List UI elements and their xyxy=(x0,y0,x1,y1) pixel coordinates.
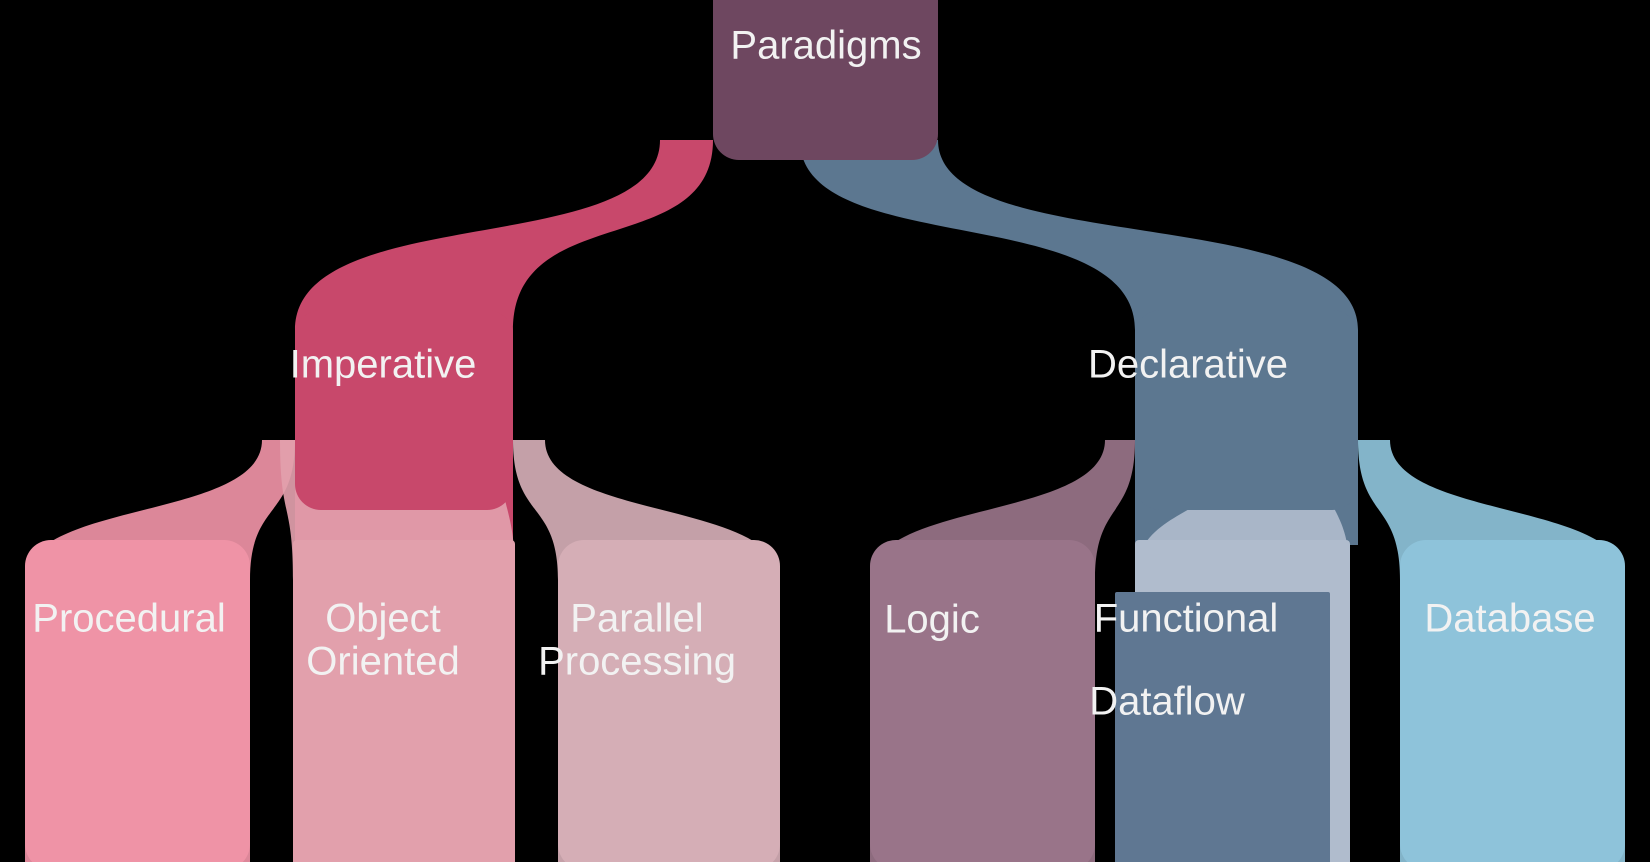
label-logic: Logic xyxy=(884,598,980,642)
node-declarative[interactable] xyxy=(1135,310,1358,510)
label-declarative: Declarative xyxy=(1088,343,1288,387)
label-object-oriented: Object Oriented xyxy=(306,597,459,684)
link-group xyxy=(25,140,1625,862)
node-database[interactable] xyxy=(1400,540,1625,862)
node-object-oriented[interactable] xyxy=(293,540,515,862)
label-parallel-processing-line1: Parallel xyxy=(570,597,703,641)
label-parallel-processing-line2: Processing xyxy=(538,640,736,684)
node-logic[interactable] xyxy=(870,540,1095,862)
node-imperative[interactable] xyxy=(295,310,513,510)
label-object-oriented-line1: Object xyxy=(325,597,441,641)
label-functional: Functional xyxy=(1094,597,1279,641)
node-procedural[interactable] xyxy=(25,540,250,862)
node-parallel-processing[interactable] xyxy=(558,540,780,862)
node-group xyxy=(25,0,1625,862)
label-imperative: Imperative xyxy=(290,343,477,387)
label-object-oriented-line2: Oriented xyxy=(306,640,459,684)
sankey-canvas: Paradigms Imperative Declarative Procedu… xyxy=(0,0,1650,862)
label-database: Database xyxy=(1424,597,1595,641)
label-dataflow: Dataflow xyxy=(1089,680,1245,724)
label-paradigms: Paradigms xyxy=(730,24,921,68)
label-procedural: Procedural xyxy=(32,597,225,641)
sankey-diagram: Paradigms Imperative Declarative Procedu… xyxy=(0,0,1650,862)
